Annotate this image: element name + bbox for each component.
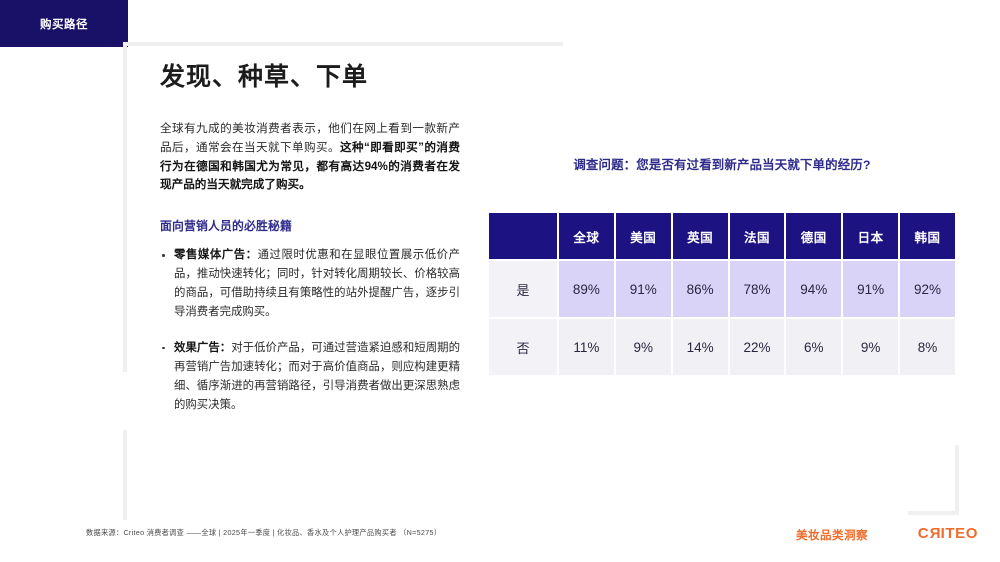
table-row: 是 89% 91% 86% 78% 94% 91% 92% bbox=[489, 261, 955, 317]
column-header-japan: 日本 bbox=[843, 213, 898, 259]
bracket-bottom-right-horizontal bbox=[908, 511, 959, 515]
section-tab-label: 购买路径 bbox=[40, 16, 88, 32]
bracket-bottom-right-vertical bbox=[955, 445, 959, 515]
survey-question-heading: 调查问题：您是否有过看到新产品当天就下单的经历? bbox=[487, 155, 957, 173]
criteo-logo: CRITEO bbox=[918, 525, 978, 542]
bracket-top-left-vertical bbox=[123, 42, 127, 372]
table-header-row: 全球 美国 英国 法国 德国 日本 韩国 bbox=[489, 213, 955, 259]
cell-yes-korea: 92% bbox=[900, 261, 955, 317]
table-header: 全球 美国 英国 法国 德国 日本 韩国 bbox=[489, 213, 955, 259]
bullet-lead-label: 零售媒体广告： bbox=[174, 249, 258, 261]
table-body: 是 89% 91% 86% 78% 94% 91% 92% 否 11% 9% 1… bbox=[489, 261, 955, 375]
column-header-uk: 英国 bbox=[673, 213, 728, 259]
slide-canvas: 购买路径 发现、种草、下单 全球有九成的美妆消费者表示，他们在网上看到一款新产品… bbox=[0, 0, 1000, 562]
cell-yes-france: 78% bbox=[730, 261, 785, 317]
cell-yes-japan: 91% bbox=[843, 261, 898, 317]
column-header-korea: 韩国 bbox=[900, 213, 955, 259]
left-content-column: 发现、种草、下单 全球有九成的美妆消费者表示，他们在网上看到一款新产品后，通常会… bbox=[160, 62, 460, 432]
cell-yes-us: 91% bbox=[616, 261, 671, 317]
criteo-logo-iteo: ITEO bbox=[941, 525, 978, 542]
bracket-top-left-horizontal bbox=[123, 42, 563, 46]
cell-no-japan: 9% bbox=[843, 319, 898, 375]
cell-yes-uk: 86% bbox=[673, 261, 728, 317]
list-item: 效果广告：对于低价产品，可通过营造紧迫感和短周期的再营销广告加速转化；而对于高价… bbox=[160, 339, 460, 415]
survey-results-table: 全球 美国 英国 法国 德国 日本 韩国 是 89% 91% 86% 78% 9… bbox=[487, 211, 957, 377]
criteo-logo-c: C bbox=[918, 525, 929, 542]
cell-no-korea: 8% bbox=[900, 319, 955, 375]
bullet-lead-label: 效果广告： bbox=[174, 342, 231, 354]
cell-no-global: 11% bbox=[559, 319, 614, 375]
cell-yes-global: 89% bbox=[559, 261, 614, 317]
column-header-germany: 德国 bbox=[786, 213, 841, 259]
column-header-global: 全球 bbox=[559, 213, 614, 259]
footer-brand-tag: 美妆品类洞察 bbox=[796, 527, 868, 543]
cell-no-uk: 14% bbox=[673, 319, 728, 375]
criteo-logo-r-mirrored: R bbox=[929, 525, 940, 542]
cell-no-us: 9% bbox=[616, 319, 671, 375]
row-label-yes: 是 bbox=[489, 261, 557, 317]
tips-bullet-list: 零售媒体广告：通过限时优惠和在显眼位置展示低价产品，推动快速转化；同时，针对转化… bbox=[160, 246, 460, 414]
section-tab: 购买路径 bbox=[0, 0, 128, 47]
cell-no-france: 22% bbox=[730, 319, 785, 375]
footer-source-note: 数据来源：Criteo 消费者调查 ——全球 | 2025年一季度 | 化妆品、… bbox=[86, 528, 441, 538]
list-item: 零售媒体广告：通过限时优惠和在显眼位置展示低价产品，推动快速转化；同时，针对转化… bbox=[160, 246, 460, 322]
cell-yes-germany: 94% bbox=[786, 261, 841, 317]
column-header-france: 法国 bbox=[730, 213, 785, 259]
cell-no-germany: 6% bbox=[786, 319, 841, 375]
right-content-column: 调查问题：您是否有过看到新产品当天就下单的经历? 全球 美国 英国 法国 德国 … bbox=[487, 155, 957, 377]
table-corner-cell bbox=[489, 213, 557, 259]
tips-heading: 面向营销人员的必胜秘籍 bbox=[160, 217, 460, 234]
column-header-us: 美国 bbox=[616, 213, 671, 259]
table-row: 否 11% 9% 14% 22% 6% 9% 8% bbox=[489, 319, 955, 375]
bracket-bottom-left-vertical bbox=[123, 430, 127, 520]
row-label-no: 否 bbox=[489, 319, 557, 375]
lead-paragraph: 全球有九成的美妆消费者表示，他们在网上看到一款新产品后，通常会在当天就下单购买。… bbox=[160, 120, 460, 195]
page-title: 发现、种草、下单 bbox=[160, 62, 460, 92]
